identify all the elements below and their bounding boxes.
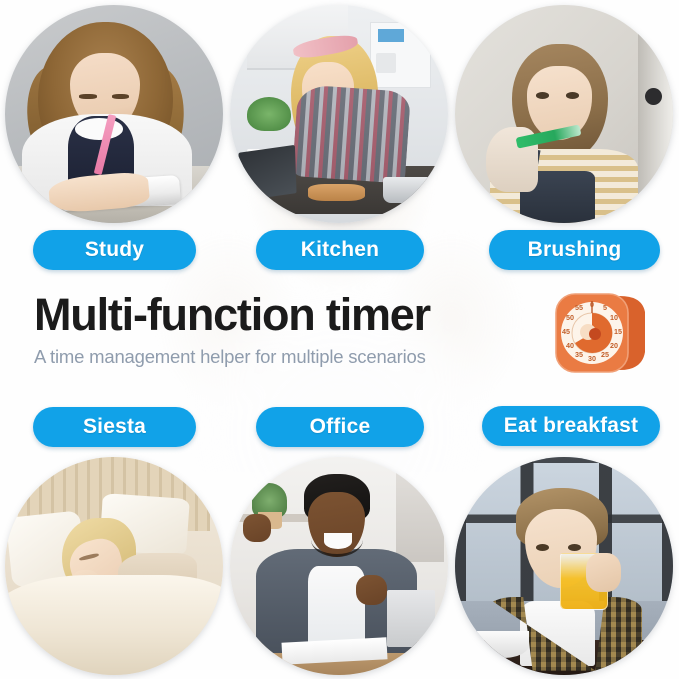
study-eye-left — [79, 94, 96, 99]
kitchen-saucepan — [383, 177, 431, 203]
kitchen-plaid-shirt — [292, 84, 411, 183]
scene-study — [5, 5, 223, 223]
product-infographic: Study Kitchen Brushing Multi-function ti… — [0, 0, 679, 679]
photo-circle-study — [5, 5, 223, 223]
office-hand — [356, 575, 387, 606]
badge-kitchen[interactable]: Kitchen — [256, 230, 424, 270]
study-collar — [75, 118, 123, 140]
kitchen-note-grey — [376, 53, 396, 73]
scene-siesta — [5, 457, 223, 675]
photo-circle-kitchen — [230, 5, 448, 223]
badge-office-label: Office — [310, 415, 371, 439]
kitchen-plant — [247, 97, 291, 132]
svg-text:25: 25 — [601, 350, 609, 359]
svg-text:10: 10 — [610, 313, 618, 322]
photo-circle-brushing — [455, 5, 673, 223]
svg-text:35: 35 — [575, 350, 583, 359]
badge-study-label: Study — [85, 238, 144, 262]
brushing-eye-left — [536, 92, 549, 99]
svg-text:40: 40 — [566, 341, 574, 350]
svg-text:0: 0 — [590, 300, 594, 309]
badge-siesta-label: Siesta — [83, 415, 146, 439]
breakfast-hand — [586, 553, 621, 592]
svg-text:45: 45 — [562, 327, 570, 336]
breakfast-eye-left — [536, 544, 549, 551]
kitchen-tablet — [238, 145, 296, 201]
siesta-duvet — [5, 575, 223, 675]
visual-timer-icon: 0 5 10 15 20 25 30 35 40 45 50 55 — [546, 286, 651, 381]
badge-brushing-label: Brushing — [528, 238, 622, 262]
office-smile — [324, 533, 352, 548]
timer-knob-shadow — [589, 328, 601, 340]
photo-circle-breakfast — [455, 457, 673, 675]
photo-circle-siesta — [5, 457, 223, 675]
svg-text:20: 20 — [610, 341, 618, 350]
badge-office[interactable]: Office — [256, 407, 424, 447]
badge-eat-breakfast[interactable]: Eat breakfast — [482, 406, 660, 446]
svg-text:50: 50 — [566, 313, 574, 322]
badge-study[interactable]: Study — [33, 230, 196, 270]
svg-text:55: 55 — [575, 303, 583, 312]
scene-brushing — [455, 5, 673, 223]
scene-kitchen — [230, 5, 448, 223]
badge-brushing[interactable]: Brushing — [489, 230, 660, 270]
badge-kitchen-label: Kitchen — [301, 238, 379, 262]
kitchen-cutting-board — [308, 184, 365, 201]
svg-text:30: 30 — [588, 354, 596, 363]
svg-text:5: 5 — [603, 303, 607, 312]
kitchen-note-blue — [378, 29, 404, 42]
photo-circle-office — [230, 457, 448, 675]
headline-block: Multi-function timer A time management h… — [34, 292, 430, 368]
page-title: Multi-function timer — [34, 292, 430, 337]
svg-text:15: 15 — [614, 327, 622, 336]
study-eye-right — [112, 94, 129, 99]
badge-siesta[interactable]: Siesta — [33, 407, 196, 447]
scene-breakfast — [455, 457, 673, 675]
brushing-eye-right — [566, 92, 579, 99]
brushing-wall — [638, 5, 673, 223]
office-raised-fist — [243, 514, 271, 542]
badge-eat-breakfast-label: Eat breakfast — [504, 414, 639, 438]
office-background-window — [396, 466, 444, 562]
office-laptop — [387, 590, 435, 647]
page-subtitle: A time management helper for multiple sc… — [34, 346, 430, 368]
breakfast-toast — [486, 616, 525, 640]
scene-office — [230, 457, 448, 675]
